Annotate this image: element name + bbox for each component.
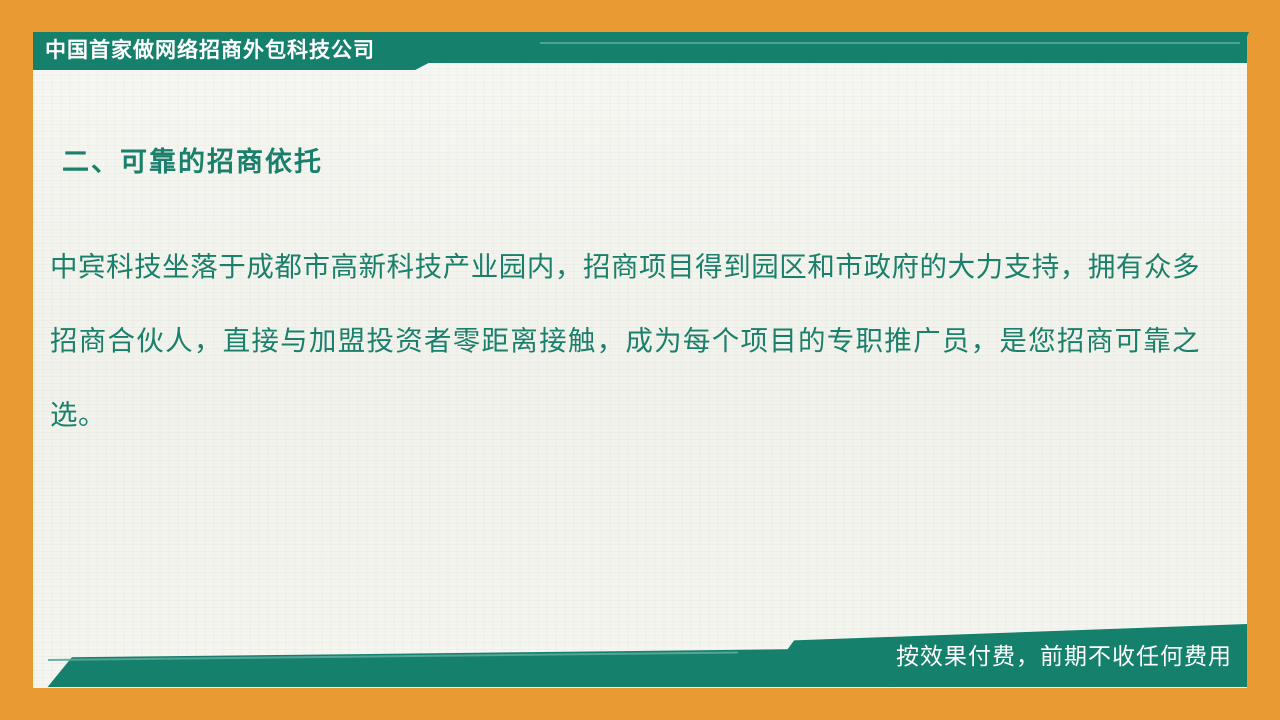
body-paragraph: 中宾科技坐落于成都市高新科技产业园内，招商项目得到园区和市政府的大力支持，拥有众… <box>50 230 1200 452</box>
presentation-slide: 二、可靠的招商依托 中宾科技坐落于成都市高新科技产业园内，招商项目得到园区和市政… <box>0 0 1280 720</box>
section-heading: 二、可靠的招商依托 <box>62 140 323 179</box>
slide-content-area: 二、可靠的招商依托 中宾科技坐落于成都市高新科技产业园内，招商项目得到园区和市政… <box>33 32 1247 688</box>
